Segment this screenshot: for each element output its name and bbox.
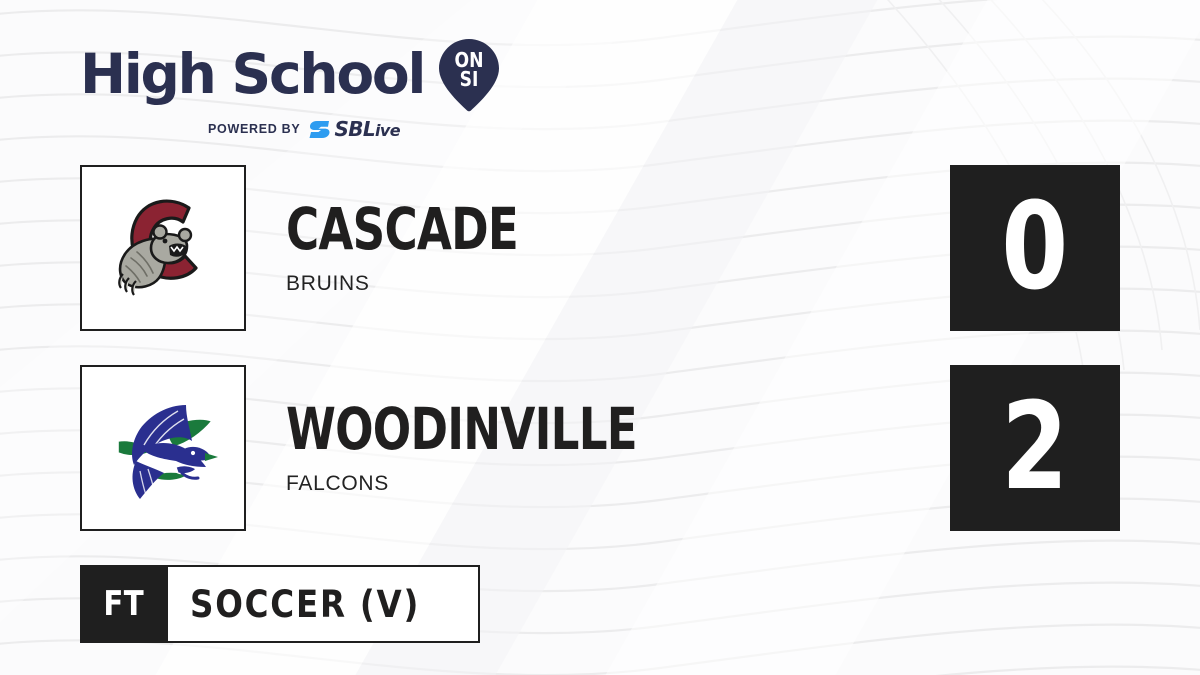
game-period-box: FT — [80, 565, 168, 643]
sblive-logo: SBLive — [309, 119, 400, 139]
team-score-box: 2 — [950, 365, 1120, 531]
scoreboard-graphic: High School ON SI POWERED BY SBLive — [0, 0, 1200, 675]
cascade-bruins-logo — [93, 178, 233, 318]
svg-text:SI: SI — [460, 69, 479, 92]
team-row: CASCADE BRUINS 0 — [80, 165, 1120, 335]
game-sport-box: SOCCER (V) — [168, 565, 480, 643]
team-logo-box — [80, 165, 246, 331]
location-pin-icon: ON SI — [438, 38, 500, 112]
team-text-block: CASCADE BRUINS — [286, 165, 583, 331]
team-text-block: WOODINVILLE FALCONS — [286, 365, 736, 531]
team-score: 0 — [1002, 188, 1069, 308]
team-nickname: BRUINS — [286, 272, 583, 296]
team-name: WOODINVILLE — [286, 400, 637, 458]
game-status-bar: FT SOCCER (V) — [80, 565, 480, 643]
brand-wordmark: High School — [80, 48, 424, 100]
sblive-wordmark-bold: SBL — [334, 117, 375, 141]
team-score-box: 0 — [950, 165, 1120, 331]
team-row: WOODINVILLE FALCONS 2 — [80, 365, 1120, 535]
game-sport-label: SOCCER (V) — [190, 583, 420, 626]
powered-by-label: POWERED BY — [208, 122, 300, 136]
game-period-label: FT — [104, 584, 145, 624]
sblive-bolt-icon — [309, 120, 331, 139]
sblive-wordmark: SBLive — [334, 119, 400, 139]
team-name: CASCADE — [286, 200, 518, 258]
team-nickname: FALCONS — [286, 472, 736, 496]
sblive-wordmark-rest: ive — [375, 121, 400, 140]
team-logo-box — [80, 365, 246, 531]
powered-by-row: POWERED BY SBLive — [208, 119, 500, 139]
brand-header: High School ON SI POWERED BY SBLive — [80, 36, 500, 139]
team-score: 2 — [1002, 388, 1069, 508]
woodinville-falcons-logo — [98, 383, 228, 513]
brand-logo-row: High School ON SI — [80, 36, 500, 112]
